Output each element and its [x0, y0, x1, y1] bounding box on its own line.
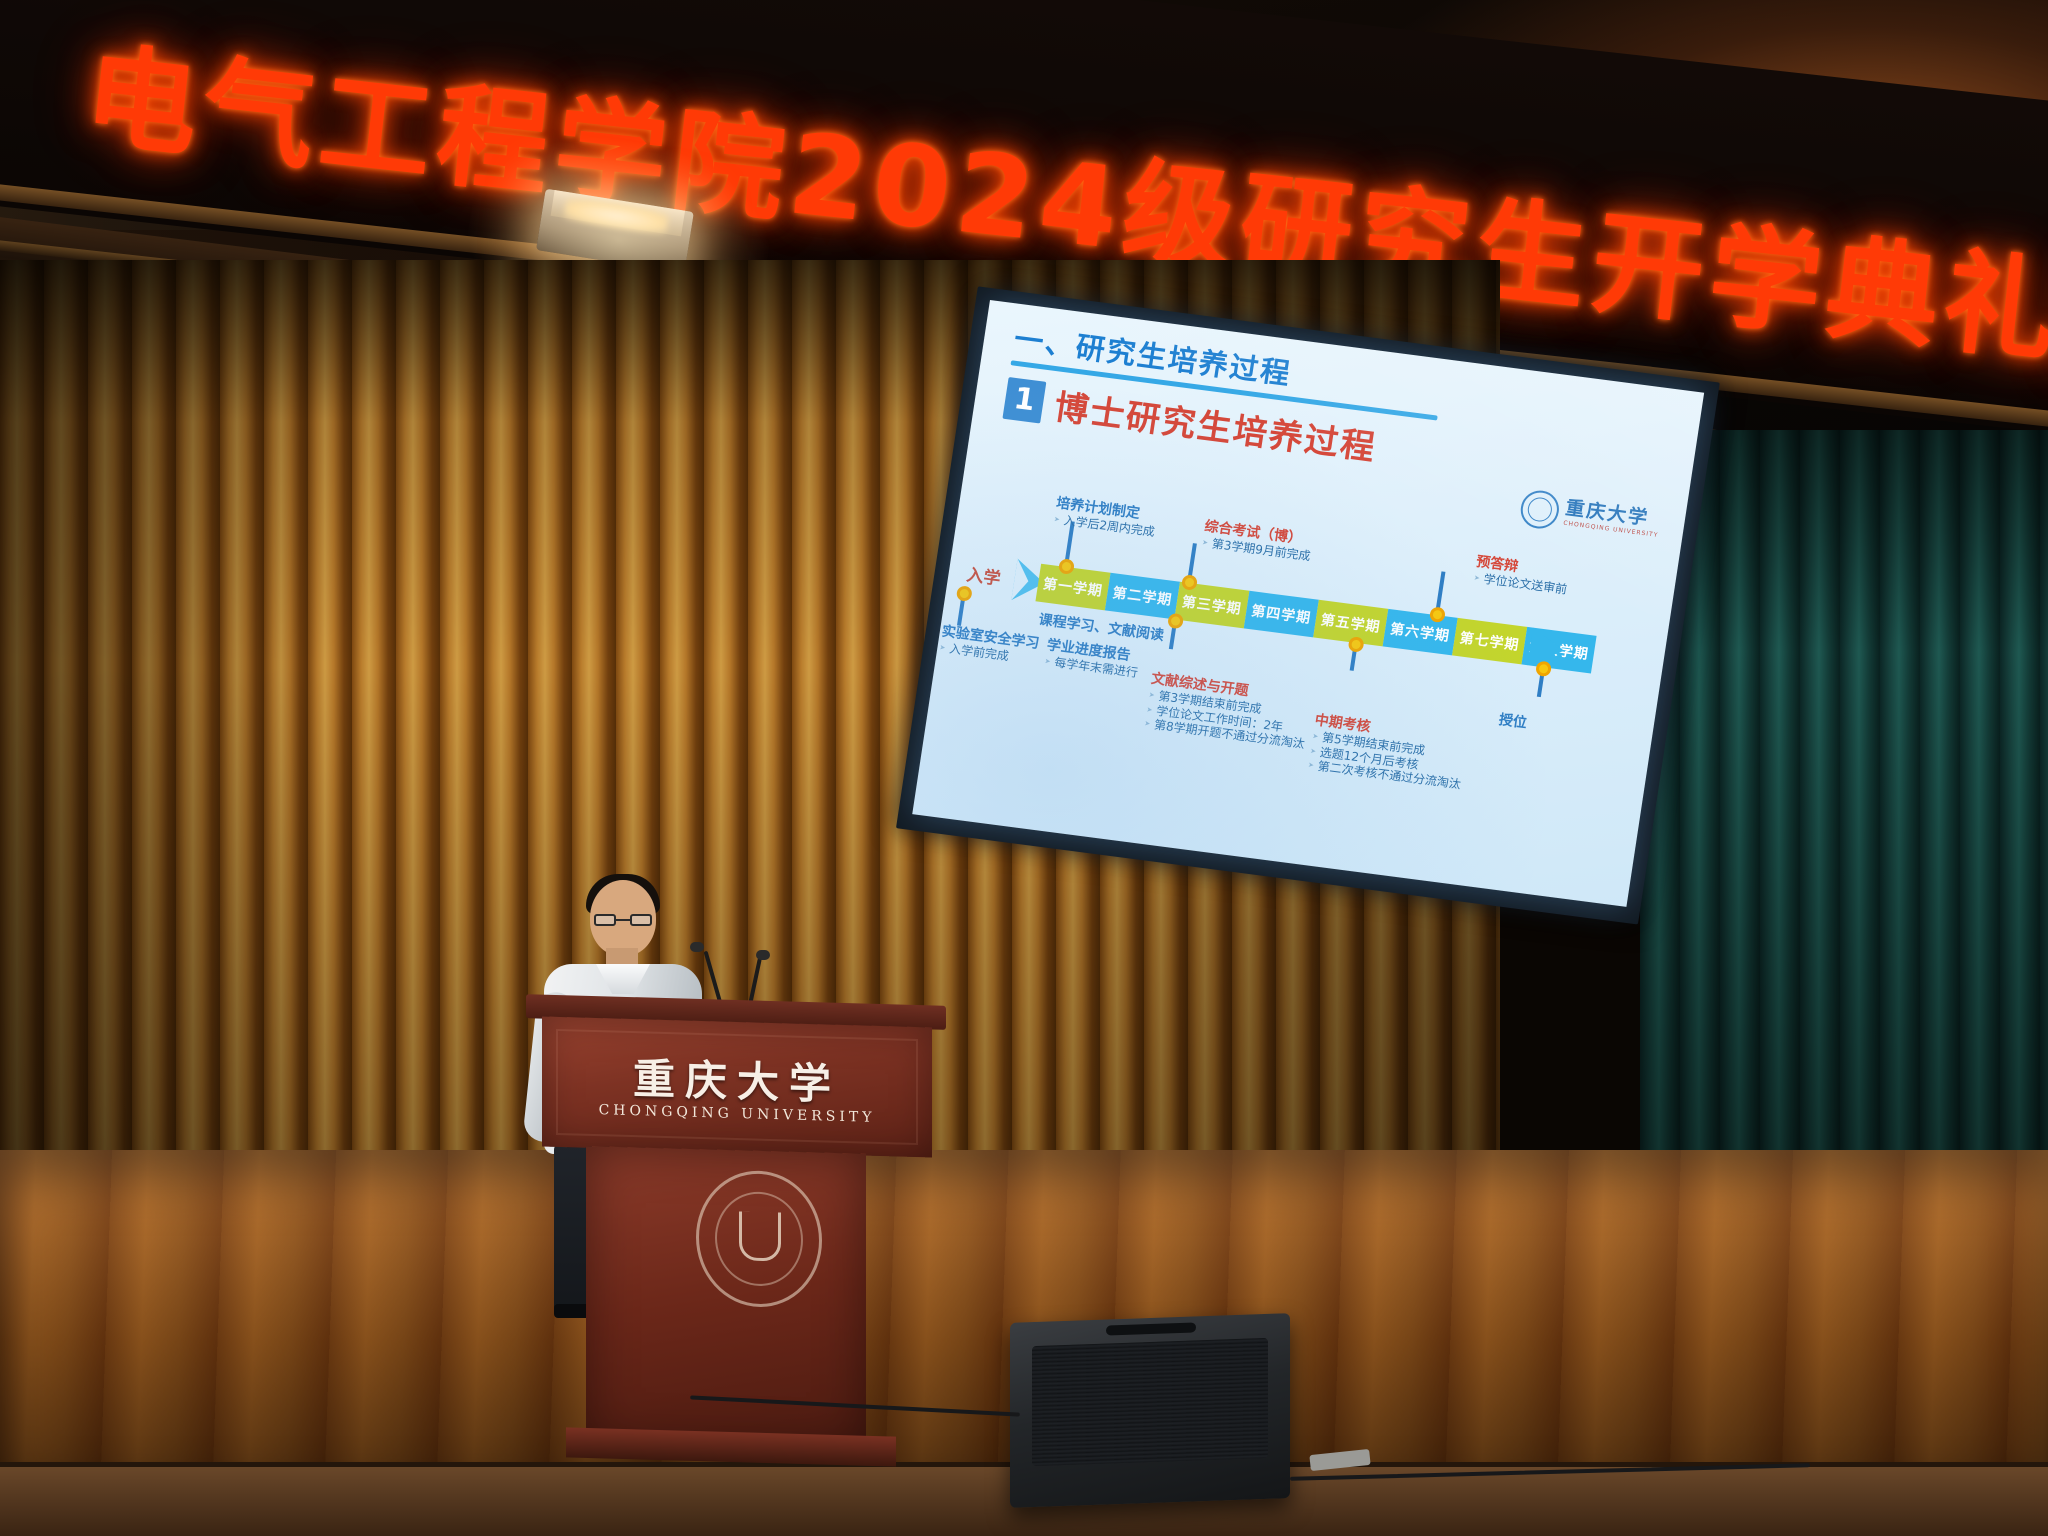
timeline-marker-dot [956, 585, 973, 602]
timeline-segment: 第七学期 [1452, 618, 1527, 665]
timeline-annotation: 文献综述与开题第3学期结束前完成学位论文工作时间：2年第8学期开题不通过分流淘汰 [1143, 671, 1312, 752]
timeline-annotation: 实验室安全学习入学前完成 [938, 624, 1040, 668]
timeline-segment: 第六学期 [1383, 609, 1458, 656]
doctoral-timeline: 入学 第一学期第二学期第三学期第四学期第五学期第六学期第七学期第八学期 培养计划… [914, 473, 1678, 892]
eyeglasses-icon [594, 914, 652, 926]
timeline-segment: 第二学期 [1105, 573, 1180, 620]
timeline-segment: 第四学期 [1244, 591, 1319, 638]
monitor-grill-icon [1032, 1338, 1268, 1466]
podium-body [586, 1146, 866, 1454]
cqu-seal-icon [1518, 488, 1561, 530]
timeline-annotation: 授位 [1498, 712, 1528, 732]
slide-number-badge: 1 [1002, 377, 1046, 423]
presentation-slide: 一、研究生培养过程 1 博士研究生培养过程 重庆大学 CHONGQING UNI… [912, 300, 1704, 907]
stage-curtain-side [1640, 430, 2048, 1170]
annotation-title: 授位 [1498, 712, 1528, 732]
timeline-annotation: 综合考试（博）第3学期9月前完成 [1201, 519, 1314, 564]
auditorium-scene: 电气工程学院2024级研究生开学典礼暨新生开学第 一、研究生培养过程 1 [0, 0, 2048, 1536]
podium-front-panel: 重庆大学 CHONGQING UNIVERSITY [542, 1017, 932, 1158]
timeline-annotation: 中期考核第5学期结束前完成选题12个月后考核第二次考核不通过分流淘汰 [1307, 712, 1469, 792]
section-number: 一、 [1012, 322, 1079, 364]
projection-screen: 一、研究生培养过程 1 博士研究生培养过程 重庆大学 CHONGQING UNI… [912, 300, 1704, 907]
microphone-head-icon [690, 942, 704, 952]
timeline-segment: 第一学期 [1035, 564, 1110, 611]
timeline-annotation: 学业进度报告每学年末需进行 [1043, 637, 1141, 680]
floor-monitor-speaker [1010, 1313, 1290, 1508]
monitor-handle [1106, 1322, 1196, 1335]
timeline-annotation: 预答辩学位论文送审前 [1473, 554, 1571, 597]
microphone-head-icon [756, 950, 770, 960]
university-emblem-icon [696, 1169, 822, 1309]
timeline-entry-label: 入学 [965, 560, 1002, 589]
